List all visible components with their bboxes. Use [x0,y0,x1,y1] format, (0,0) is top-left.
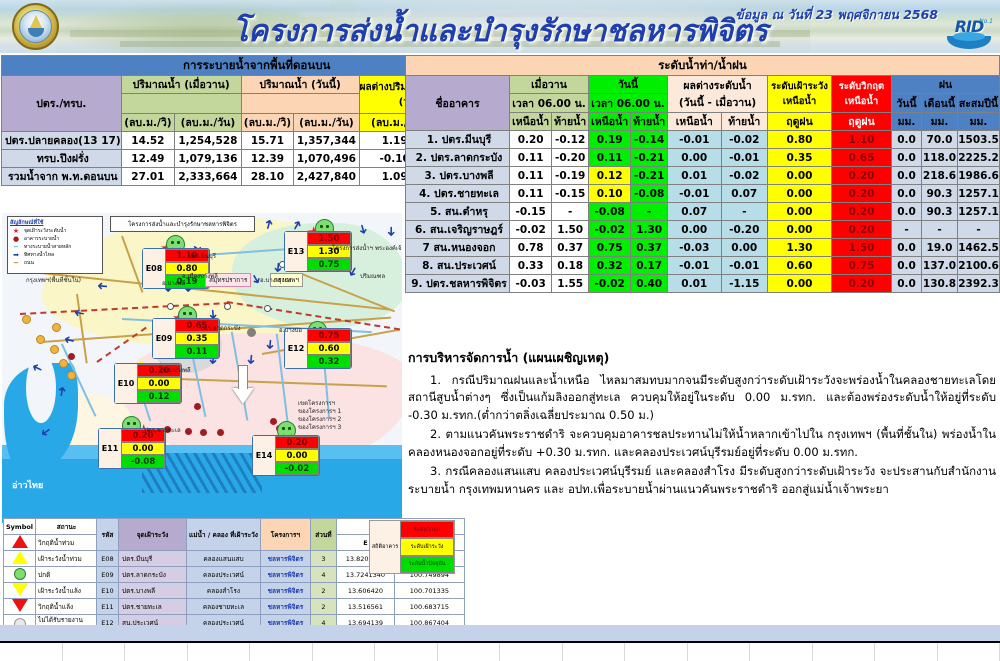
grid-cell[interactable] [0,643,63,661]
right-row-8-y-dn: 1.55 [552,275,589,293]
unit-t-cmd: (ลบ.ม./วัน) [294,114,359,132]
right-row-5-d-dn: -0.20 [721,221,767,239]
map-station-today-E10: 0.12 [137,390,181,403]
table-row: 6. สน.เจริญราษฎร์-0.021.50-0.021.300.00-… [406,221,1000,239]
left-row-0-name: ปตร.ปลายคลอง(13 17) [2,132,122,150]
coord-row-1-part: 4 [310,567,336,583]
right-row-6-crit: 1.50 [832,239,892,257]
right-row-4-rain-month: 90.3 [922,203,958,221]
right-row-5-rain-month: - [922,221,958,239]
spacer-peach [241,94,359,114]
right-row-0-rain-year: 1503.5 [958,131,1000,149]
right-row-7-t-dn: 0.17 [631,257,668,275]
right-row-8-rain-month: 130.8 [922,275,958,293]
right-row-0-t-dn: -0.14 [631,131,668,149]
right-row-6-t-up: 0.75 [589,239,631,257]
right-row-3-crit: 0.20 [832,185,892,203]
coord-header-station: จุดเฝ้าระวัง [119,519,187,551]
page-banner: โครงการส่งน้ำและบำรุงรักษาชลหารพิจิตร ข้… [0,0,1000,53]
map-legend-label: ถนน [24,259,34,267]
col-header-rain: ฝน [892,76,1000,94]
mini-legend-warning: ระดับเฝ้าระวัง [400,538,454,555]
right-row-1-warn: 0.35 [768,149,832,167]
right-row-6-rain-month: 19.0 [922,239,958,257]
right-row-7-y-dn: 0.18 [552,257,589,275]
grid-cell[interactable] [313,643,376,661]
map-label-minburi: ปตร.มีนบุรี [188,251,216,261]
col-header-building-name: ชื่ออาคาร [406,76,510,131]
right-row-7-t-up: 0.32 [589,257,631,275]
left-row-1-t-cmd: 1,070,496 [294,150,359,168]
map-node-orange-icon [52,323,61,332]
col-header-rain-day: วันนี้ [892,94,922,113]
right-row-2-y-up: 0.11 [510,167,552,185]
rid-wave-icon [947,36,991,49]
map-legend-item: ➡ทิศทางน้ำไหล [10,251,100,259]
map-title-box: โครงการส่งน้ำและบำรุงรักษาชลหารพิจิตร [110,216,255,232]
map-station-warn-E10: 0.00 [137,377,181,390]
map-legend-label: ทางระบายน้ำสายหลัก [24,243,71,251]
table-row: วิกฤติน้ำแล้ง [4,599,98,615]
right-row-0-crit: 1.10 [832,131,892,149]
col-header-warning-l2: เหนือน้ำ [768,94,831,109]
col-header-today-time: เวลา 06.00 น. [589,94,668,113]
right-row-4-y-dn: - [552,203,589,221]
unit-t-cms: (ลบ.ม./วิ) [241,114,294,132]
rid-logo-icon: RID No.1 [944,16,994,51]
map-node-orange-icon [22,315,31,324]
spacer-green [121,94,241,114]
grid-cell[interactable] [250,643,313,661]
right-row-3-rain-day: 0.0 [892,185,922,203]
map-node-orange-icon [59,359,68,368]
flow-arrow-icon: ➜ [63,332,77,347]
col-header-rain-year: สะสมปีนี้ [958,94,1000,113]
right-row-8-d-dn: -1.15 [721,275,767,293]
right-row-4-t-up: -0.08 [589,203,631,221]
coord-header-part: ส่วนที่ [310,519,336,551]
map-label-ladkrabang: ปตร.ลาดกระบัง [200,323,241,333]
right-row-7-y-up: 0.33 [510,257,552,275]
right-row-0-rain-month: 70.0 [922,131,958,149]
drain-structure-dot-icon [270,418,277,425]
symbol-cell-drought-critical [4,599,36,615]
right-row-2-name: 3. ปตร.บางพลี [406,167,510,185]
grid-cell[interactable] [375,643,438,661]
map-gulf-label: อ่าวไทย [12,478,43,492]
left-row-1-t-cms: 12.39 [241,150,294,168]
grid-cell[interactable] [500,643,563,661]
right-row-5-name: 6. สน.เจริญราษฎร์ [406,221,510,239]
left-row-0-y-cms: 14.52 [121,132,174,150]
sub-y-up: เหนือน้ำ [510,113,552,131]
symbol-label-4: วิกฤติน้ำแล้ง [36,599,98,615]
coord-row-3-code: E11 [97,599,119,615]
right-row-1-y-up: 0.11 [510,149,552,167]
unit-rain-day: มม. [892,113,922,131]
right-row-6-rain-day: 0.0 [892,239,922,257]
right-row-5-rain-year: - [958,221,1000,239]
map-node-orange-icon [36,335,45,344]
sub-t-dn: ท้ายน้ำ [631,113,668,131]
coord-row-3-canal: คลองชายทะเล [187,599,261,615]
right-row-0-d-dn: -0.02 [721,131,767,149]
drain-structure-dot-icon [194,403,201,410]
map-station-warn-E14: 0.00 [275,449,319,462]
right-row-1-y-dn: -0.20 [552,149,589,167]
col-header-warning-level: ระดับเฝ้าระวัง เหนือน้ำ [768,76,832,113]
drain-structure-dot-icon [185,428,192,435]
sub-d-dn: ท้ายน้ำ [721,113,767,131]
mini-legend-critical: ระดับวิกฤต [400,521,454,538]
left-row-2-t-cms: 28.10 [241,168,294,186]
right-row-6-t-dn: 0.37 [631,239,668,257]
right-row-1-d-up: 0.00 [668,149,722,167]
right-row-6-rain-year: 1462.5 [958,239,1000,257]
left-row-2-name: รวมน้ำจาก พ.ท.ดอนบน [2,168,122,186]
grid-cell[interactable] [563,643,626,661]
right-row-6-y-dn: 0.37 [552,239,589,257]
dot-icon: ● [10,235,22,243]
coord-row-0-code: E08 [97,551,119,567]
symbol-status-table: Symbol สถานะ วิกฤติน้ำท่วม เฝ้าระวังน้ำท… [3,518,98,636]
right-row-3-t-up: 0.10 [589,185,631,203]
grid-cell[interactable] [875,643,938,661]
symbol-cell-drought-warning [4,583,36,599]
coord-row-1-code: E09 [97,567,119,583]
grid-cell[interactable] [125,643,188,661]
arrow-icon: ➡ [10,251,22,259]
table-row: ชื่ออาคาร เมื่อวาน วันนี้ ผลต่างระดับน้ำ… [406,76,1000,94]
right-row-5-y-dn: 1.50 [552,221,589,239]
right-row-8-d-up: 0.01 [668,275,722,293]
map-station-today-E11: -0.08 [121,455,165,468]
right-row-0-rain-day: 0.0 [892,131,922,149]
grid-cell[interactable] [625,643,688,661]
grid-cell[interactable] [750,643,813,661]
unit-y-cms: (ลบ.ม./วิ) [121,114,174,132]
symbol-label-0: วิกฤติน้ำท่วม [36,535,98,551]
right-row-2-rain-month: 218.6 [922,167,958,185]
right-row-8-t-up: -0.02 [589,275,631,293]
map-station-code-E10: E10 [115,364,137,403]
table-row: 7 สน.หนองจอก0.780.370.750.37-0.030.001.3… [406,239,1000,257]
coord-row-1-station: ปตร.ลาดกระบัง [119,567,187,583]
water-management-notes: การบริหารจัดการน้ำ (แผนเผชิญเหตุ) 1. กรณ… [408,348,996,500]
map-label-parimonthon: ปริมณฑล [360,271,385,281]
map-station-today-E14: -0.02 [275,462,319,475]
left-row-2-t-cmd: 2,427,840 [294,168,359,186]
right-table-group-header: ระดับน้ำท่า/น้ำฝน [406,56,1000,76]
triangle-down-red-icon [12,599,28,612]
map-node-white-icon [167,303,174,310]
note-item-2: 2. ตามแนวคันพระราชดำริ จะควบคุมอาคารชลปร… [408,426,996,461]
coord-row-2-part: 2 [310,583,336,599]
note-item-1: 1. กรณีปริมาณฝนและน้ำเหนือ ไหลมาสมทบมากจ… [408,372,996,424]
map-station-code-E13: E13 [285,232,307,271]
right-row-5-crit: 0.20 [832,221,892,239]
col-header-level-diff-l1: ผลต่างระดับน้ำ [668,77,767,94]
right-row-8-y-up: -0.03 [510,275,552,293]
right-row-8-rain-day: 0.0 [892,275,922,293]
symbol-cell-flood-warning [4,551,36,567]
right-row-2-d-up: 0.01 [668,167,722,185]
triangle-up-yellow-icon [12,551,28,564]
map-legend-label: อาคารระบายน้ำ [24,235,59,243]
col-header-volume-today: ปริมาณน้ำ (วันนี้) [241,76,359,94]
right-row-7-rain-day: 0.0 [892,257,922,275]
table-row: E11ปตร.ชายทะเลคลองชายทะเลชลหารพิจิตร213.… [97,599,465,615]
table-row: 9. ปตร.ชลหารพิจิตร-0.031.55-0.020.400.01… [406,275,1000,293]
right-row-0-warn: 0.80 [768,131,832,149]
drain-structure-dot-icon [68,353,75,360]
map-label-project: โครงการส่งน้ำฯ พระองค์เจ้าไชยานุชิต [332,243,402,253]
flow-arrow-icon: ➜ [55,385,70,398]
sub-warn-season: ฤดูฝน [768,113,832,131]
grid-cell[interactable] [813,643,876,661]
watershed-map[interactable]: อ่าวไทย ➜ ➜ ➜ ➜ ➜ ➜ ➜ ➜ ➜ ➜ ➜ ➜ ➜ [2,213,402,523]
mini-legend-title: สถิติอาคาร [370,521,400,573]
map-label-bangbo: อ.บางบ่อ [279,325,302,335]
right-row-5-y-up: -0.02 [510,221,552,239]
road-line-icon: ━ [10,259,22,267]
col-header-yesterday-time: เวลา 06.00 น. [510,94,589,113]
symbol-label-3: เฝ้าระวังน้ำแล้ง [36,583,98,599]
right-row-1-name: 2. ปตร.ลาดกระบัง [406,149,510,167]
col-header-critical-l1: ระดับวิกฤต [832,79,891,94]
col-header-today: วันนี้ [589,76,668,94]
coord-row-0-part: 3 [310,551,336,567]
right-row-0-t-up: 0.19 [589,131,631,149]
table-row: 1. ปตร.มีนบุรี0.20-0.120.19-0.14-0.01-0.… [406,131,1000,149]
left-row-0-y-cmd: 1,254,528 [175,132,242,150]
right-row-4-rain-year: 1257.1 [958,203,1000,221]
right-row-2-t-dn: -0.21 [631,167,668,185]
sub-d-up: เหนือน้ำ [668,113,722,131]
right-row-2-rain-day: 0.0 [892,167,922,185]
sub-y-dn: ท้ายน้ำ [552,113,589,131]
map-station-crit-E14: 0.20 [275,436,319,449]
table-row: 3. ปตร.บางพลี0.11-0.190.12-0.210.01-0.02… [406,167,1000,185]
right-row-0-name: 1. ปตร.มีนบุรี [406,131,510,149]
map-station-warn-E12: 0.60 [307,342,351,355]
right-row-6-d-up: -0.03 [668,239,722,257]
symbol-cell-flood-critical [4,535,36,551]
right-row-1-rain-month: 118.0 [922,149,958,167]
data-date-label: ข้อมูล ณ วันที่ 23 พฤศจิกายน 2568 [735,5,938,25]
drain-structure-dot-icon [217,429,224,436]
map-node-gray-icon [247,328,256,337]
col-header-station: ปตร./ทรบ. [2,76,122,132]
map-legend-item: ●อาคารระบายน้ำ [10,235,100,243]
right-row-4-crit: 0.20 [832,203,892,221]
coord-row-0-project: ชลหารพิจิตร [260,551,310,567]
grid-cell[interactable] [938,643,1000,661]
map-legend-label: ทิศทางน้ำไหล [24,251,54,259]
map-station-code-E14: E14 [253,436,275,475]
map-label-zone3: ของโครงการฯ 3 [298,422,341,432]
table-row: ปกติ [4,567,98,583]
triangle-up-red-icon [12,535,28,548]
map-station-today-E13: 0.75 [307,258,351,271]
map-node-white-icon [224,303,231,310]
coord-row-3-station: ปตร.ชายทะเล [119,599,187,615]
sym-header-status: สถานะ [36,519,98,535]
right-row-2-warn: 0.00 [768,167,832,185]
right-row-8-crit: 0.20 [832,275,892,293]
right-row-4-d-up: 0.07 [668,203,722,221]
col-header-yesterday: เมื่อวาน [510,76,589,94]
sym-header-symbol: Symbol [4,519,36,535]
right-row-6-y-up: 0.78 [510,239,552,257]
map-label-chaithale: ปตร.ชายทะเล [144,425,181,435]
map-station-box-E14[interactable]: E14 0.20 0.00 -0.02 [252,435,320,476]
symbol-cell-normal [4,567,36,583]
right-row-4-d-dn: - [721,203,767,221]
coord-row-3-n: 100.683715 [394,599,464,615]
col-header-rain-month: เดือนนี้ [922,94,958,113]
map-station-code-E09: E09 [153,319,175,358]
station-box-legend: สถิติอาคาร ระดับวิกฤต ระดับเฝ้าระวัง ระด… [369,520,455,574]
right-row-2-y-dn: -0.19 [552,167,589,185]
smiley-green-icon [14,568,26,580]
notes-title: การบริหารจัดการน้ำ (แผนเผชิญเหตุ) [408,348,996,368]
right-row-2-d-dn: -0.02 [721,167,767,185]
map-white-down-arrow-icon [232,388,254,404]
left-row-1-y-cmd: 1,079,136 [175,150,242,168]
symbol-label-1: เฝ้าระวังน้ำท่วม [36,551,98,567]
col-header-critical-l2: เหนือน้ำ [832,94,891,109]
bottom-band [0,625,1000,641]
right-row-2-crit: 0.20 [832,167,892,185]
table-row: E10ปตร.บางพลีคลองสำโรงชลหารพิจิตร213.606… [97,583,465,599]
right-row-3-y-dn: -0.15 [552,185,589,203]
right-row-3-d-dn: 0.07 [721,185,767,203]
map-node-orange-icon [50,345,59,354]
left-row-2-y-cmd: 2,333,664 [175,168,242,186]
grid-cell[interactable] [688,643,751,661]
right-row-8-warn: 0.00 [768,275,832,293]
map-legend-label: จุดเฝ้าระวังระดับน้ำ [24,227,66,235]
line-icon: ━ [10,243,22,251]
coord-row-2-project: ชลหารพิจิตร [260,583,310,599]
bottom-spreadsheet-grid [0,641,1000,661]
col-header-level-diff: ผลต่างระดับน้ำ (วันนี้ - เมื่อวาน) [668,76,768,113]
right-row-3-rain-year: 1257.1 [958,185,1000,203]
right-row-4-t-dn: - [631,203,668,221]
right-row-1-crit: 0.65 [832,149,892,167]
coord-row-1-canal: คลองประเวศน์ [187,567,261,583]
table-row: 4. ปตร.ชายทะเล0.11-0.150.10-0.08-0.010.0… [406,185,1000,203]
unit-y-cmd: (ลบ.ม./วัน) [175,114,242,132]
right-row-6-warn: 1.30 [768,239,832,257]
right-row-1-t-dn: -0.21 [631,149,668,167]
table-row: เฝ้าระวังน้ำท่วม [4,551,98,567]
royal-irrigation-seal-icon [12,3,59,50]
right-row-0-d-up: -0.01 [668,131,722,149]
coord-header-canal: แม่น้ำ / คลอง ที่เฝ้าระวัง [187,519,261,551]
map-label-bangkok-inner: กรุงเทพฯ(พื้นที่ชั้นใน) [26,275,81,285]
coord-row-2-code: E10 [97,583,119,599]
right-row-4-name: 5. สน.ตำหรุ [406,203,510,221]
coord-row-3-part: 2 [310,599,336,615]
right-row-8-rain-year: 2392.3 [958,275,1000,293]
right-row-8-t-dn: 0.40 [631,275,668,293]
flow-arrow-icon: ➜ [96,279,108,293]
unit-rain-month: มม. [922,113,958,131]
right-row-2-rain-year: 1986.6 [958,167,1000,185]
grid-cell[interactable] [63,643,126,661]
coord-header-code: รหัส [97,519,119,551]
coord-row-1-project: ชลหารพิจิตร [260,567,310,583]
table-row: 2. ปตร.ลาดกระบัง0.11-0.200.11-0.210.00-0… [406,149,1000,167]
right-row-7-d-up: -0.01 [668,257,722,275]
right-row-5-t-up: -0.02 [589,221,631,239]
right-row-3-name: 4. ปตร.ชายทะเล [406,185,510,203]
left-row-0-t-cms: 15.71 [241,132,294,150]
right-row-1-rain-day: 0.0 [892,149,922,167]
coord-row-3-project: ชลหารพิจิตร [260,599,310,615]
right-row-6-name: 7 สน.หนองจอก [406,239,510,257]
rid-logo-sub: No.1 [979,18,993,25]
map-station-warn-E09: 0.35 [175,332,219,345]
dashboard-page: โครงการส่งน้ำและบำรุงรักษาชลหารพิจิตร ข้… [0,0,1000,661]
table-row: เฝ้าระวังน้ำแล้ง [4,583,98,599]
map-station-warn-E11: 0.00 [121,442,165,455]
right-row-5-rain-day: - [892,221,922,239]
coord-row-2-e: 13.606420 [336,583,394,599]
right-row-1-d-dn: -0.01 [721,149,767,167]
coord-row-0-canal: คลองแสนแสบ [187,551,261,567]
grid-cell[interactable] [438,643,501,661]
map-symbol-legend: สัญลักษณ์ที่ใช้ ★จุดเฝ้าระวังระดับน้ำ ●อ… [7,216,103,274]
map-node-white-icon [264,305,271,312]
symbol-label-2: ปกติ [36,567,98,583]
grid-cell[interactable] [188,643,251,661]
table-row: วิกฤติน้ำท่วม [4,535,98,551]
triangle-down-yellow-icon [12,583,28,596]
coord-row-0-station: ปตร.มีนบุรี [119,551,187,567]
right-row-5-warn: 0.00 [768,221,832,239]
map-node-orange-icon [67,371,76,380]
col-header-warning-l1: ระดับเฝ้าระวัง [768,79,831,94]
map-station-today-E09: 0.11 [175,345,219,358]
map-legend-item: ━ถนน [10,259,100,267]
right-row-7-name: 8. สน.ประเวศน์ [406,257,510,275]
note-item-3: 3. กรณีคลองแสนแสบ คลองประเวศน์บุรีรมย์ แ… [408,463,996,498]
flow-arrow-icon: ➜ [244,354,258,366]
right-row-1-t-up: 0.11 [589,149,631,167]
mini-legend-current: ระดับน้ำปัจจุบัน [400,556,454,573]
left-row-1-name: ทรบ.ปึงฝรั่ง [2,150,122,168]
flow-arrow-icon: ➜ [384,226,397,237]
table-row: ระดับน้ำท่า/น้ำฝน [406,56,1000,76]
right-row-3-d-up: -0.01 [668,185,722,203]
right-row-3-warn: 0.00 [768,185,832,203]
right-row-0-y-dn: -0.12 [552,131,589,149]
col-header-critical-level: ระดับวิกฤต เหนือน้ำ [832,76,892,113]
right-row-3-t-dn: -0.08 [631,185,668,203]
right-row-7-warn: 0.60 [768,257,832,275]
drain-structure-dot-icon [200,429,207,436]
water-level-rainfall-table: ระดับน้ำท่า/น้ำฝน ชื่ออาคาร เมื่อวาน วัน… [405,55,1000,293]
right-row-7-rain-year: 2100.6 [958,257,1000,275]
right-row-2-t-up: 0.12 [589,167,631,185]
right-row-0-y-up: 0.20 [510,131,552,149]
map-white-arrow-shaft [238,365,248,389]
right-row-7-d-dn: -0.01 [721,257,767,275]
map-label-bangphli-gate: ปตร.บางพลี [160,365,191,375]
